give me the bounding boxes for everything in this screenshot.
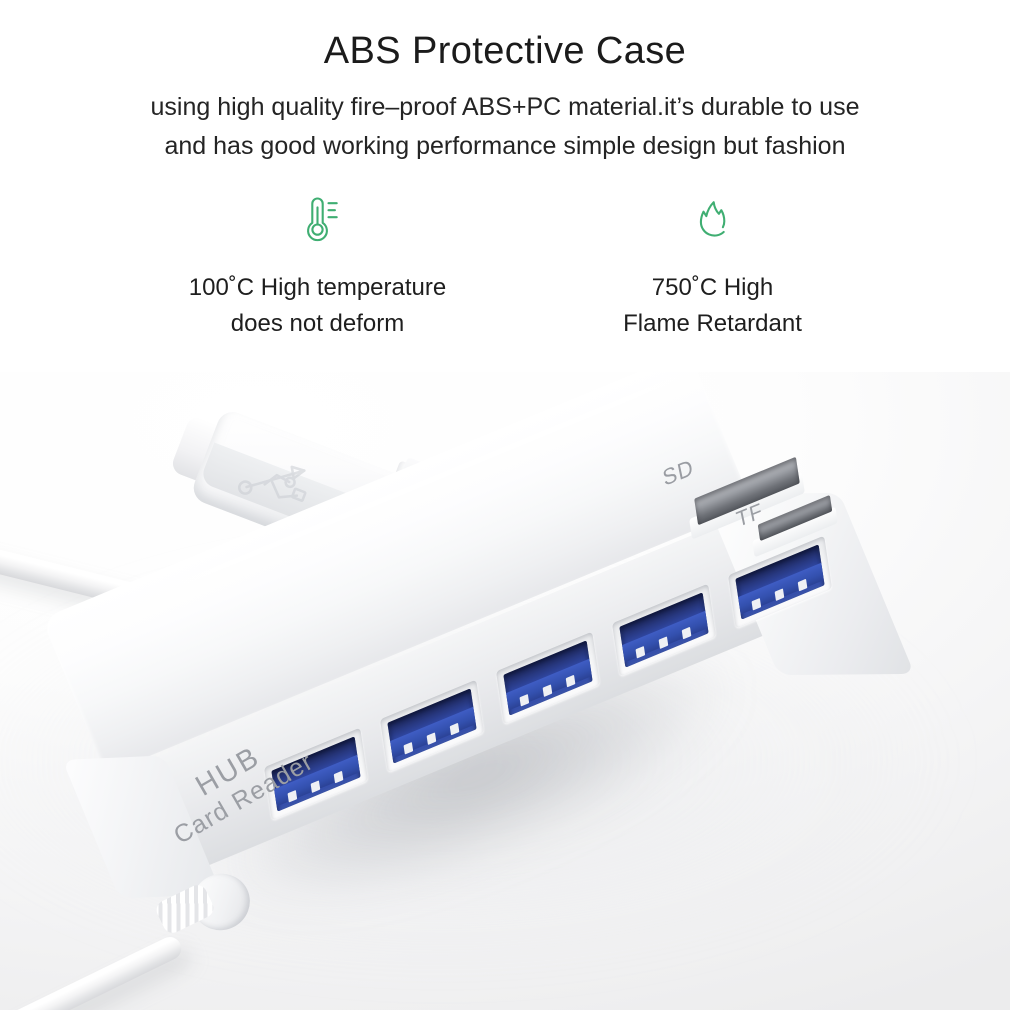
usb-port-pin: [566, 675, 576, 688]
product-marketing-image: ABS Protective Case using high quality f…: [0, 0, 1010, 1010]
usb-port-pin: [682, 627, 692, 640]
usb-port-pin: [775, 588, 785, 601]
thermometer-icon: [287, 186, 349, 248]
marketing-copy-block: ABS Protective Case using high quality f…: [0, 0, 1010, 372]
usb-port-pin: [288, 790, 298, 803]
usb-port-pin: [450, 723, 460, 736]
usb-hub-body: SD TF: [96, 400, 886, 960]
usb-port-pin: [659, 636, 669, 649]
feature-item-temperature: 100˚C High temperature does not deform: [120, 186, 515, 341]
usb-port-pin: [636, 646, 646, 659]
feature-item-flame: 750˚C High Flame Retardant: [515, 186, 910, 341]
product-photo: SD TF: [0, 372, 1010, 1010]
subtitle-line-1: using high quality fire–proof ABS+PC mat…: [0, 88, 1010, 127]
subtitle-paragraph: using high quality fire–proof ABS+PC mat…: [0, 88, 1010, 166]
feature-text-temperature: 100˚C High temperature does not deform: [189, 270, 446, 341]
page-title: ABS Protective Case: [0, 30, 1010, 74]
usb-port-pin: [798, 579, 808, 592]
subtitle-line-2: and has good working performance simple …: [0, 127, 1010, 166]
feature-temperature-line-1: 100˚C High temperature: [189, 270, 446, 306]
flame-icon: [682, 186, 744, 248]
usb-port-pin: [404, 742, 414, 755]
usb-port-pin: [543, 684, 553, 697]
feature-flame-line-1: 750˚C High: [623, 270, 802, 306]
feature-text-flame: 750˚C High Flame Retardant: [623, 270, 802, 341]
feature-list: 100˚C High temperature does not deform 7…: [120, 186, 910, 341]
usb-port-pin: [520, 694, 530, 707]
usb-port-pin: [311, 780, 321, 793]
usb-port-pin: [752, 598, 762, 611]
feature-temperature-line-2: does not deform: [189, 306, 446, 342]
usb-port-pin: [427, 732, 437, 745]
feature-flame-line-2: Flame Retardant: [623, 306, 802, 342]
usb-port-pin: [334, 771, 344, 784]
